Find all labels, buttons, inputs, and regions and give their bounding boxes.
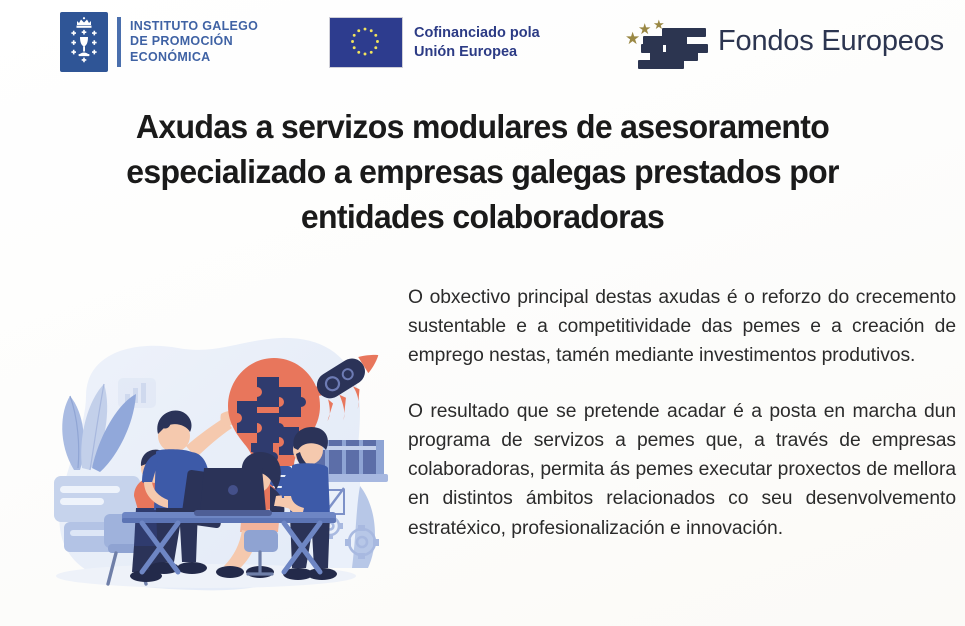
title-line-2: especializado a empresas galegas prestad… [60, 151, 905, 196]
body-text-column: O obxectivo principal destas axudas é o … [408, 283, 956, 543]
step-bar [638, 60, 684, 69]
igape-line-3: ECONÓMICA [130, 50, 258, 65]
european-union-flag-icon [329, 17, 403, 68]
bar-chart-icon [118, 378, 156, 408]
igape-line-2: DE PROMOCIÓN [130, 34, 258, 49]
page-title: Axudas a servizos modulares de asesorame… [60, 106, 905, 241]
eu-line-2: Unión Europea [414, 43, 540, 62]
european-union-logo: Cofinanciado pola Unión Europea [329, 17, 540, 68]
team-collaboration-illustration [8, 300, 400, 620]
laptop-on-desk [194, 468, 272, 516]
igape-line-1: INSTITUTO GALEGO [130, 19, 258, 34]
xunta-de-galicia-coat-of-arms-icon [60, 12, 108, 72]
poster-page: INSTITUTO GALEGO DE PROMOCIÓN ECONÓMICA … [0, 0, 965, 626]
eu-cofinancing-text: Cofinanciado pola Unión Europea [414, 24, 540, 61]
fondos-europeos-wordmark: Fondos Europeos [718, 25, 944, 58]
funding-logo-bar: INSTITUTO GALEGO DE PROMOCIÓN ECONÓMICA … [0, 0, 965, 88]
igape-logo: INSTITUTO GALEGO DE PROMOCIÓN ECONÓMICA [60, 12, 258, 72]
fondos-europeos-stepped-bars-icon: ★ ★ ★ [624, 8, 708, 74]
paragraph-result: O resultado que se pretende acadar é a p… [408, 397, 956, 543]
fondos-europeos-logo: ★ ★ ★ Fondos Europeos [624, 8, 944, 74]
title-line-3: entidades colaboradoras [60, 196, 905, 241]
igape-divider [117, 17, 121, 67]
gold-star-icon: ★ [625, 30, 640, 47]
eu-line-1: Cofinanciado pola [414, 24, 540, 43]
igape-wordmark: INSTITUTO GALEGO DE PROMOCIÓN ECONÓMICA [130, 19, 258, 65]
title-line-1: Axudas a servizos modulares de asesorame… [60, 106, 905, 151]
paragraph-objective: O obxectivo principal destas axudas é o … [408, 283, 956, 371]
